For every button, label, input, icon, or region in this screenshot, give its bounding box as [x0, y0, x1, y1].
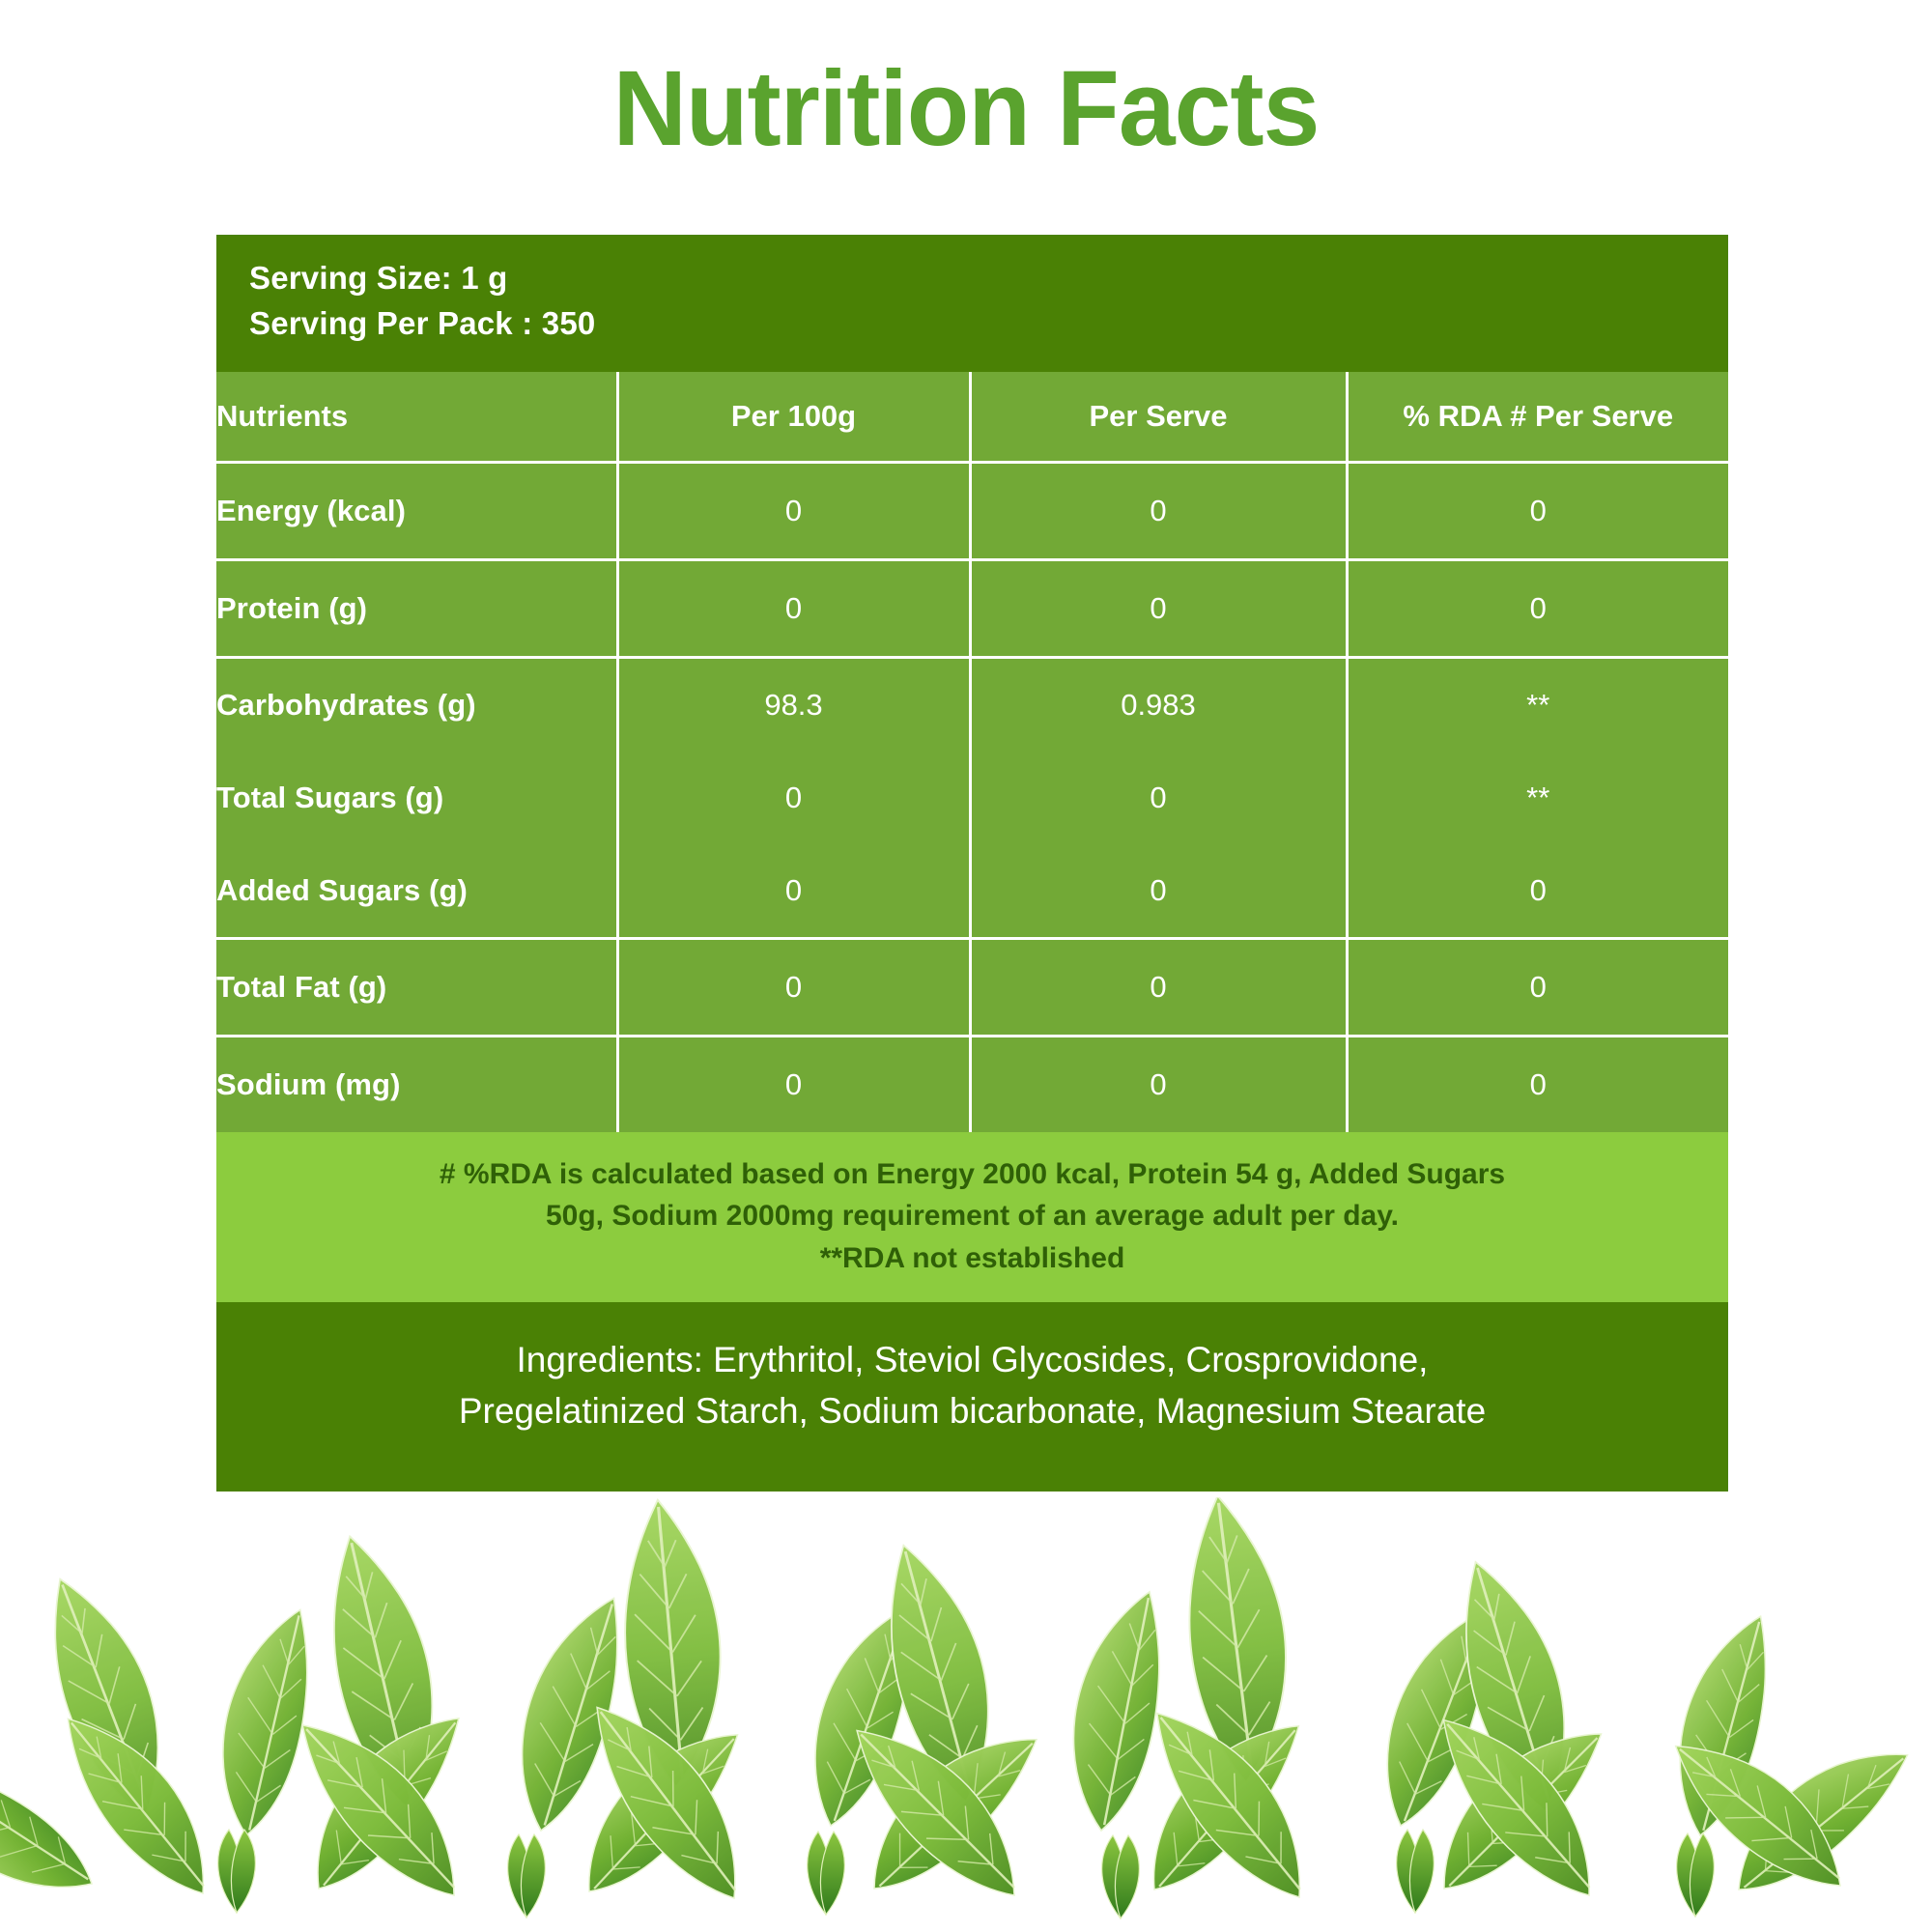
nutrient-rda: **	[1347, 657, 1728, 752]
nutrient-name: Total Sugars (g)	[216, 752, 617, 844]
nutrient-name: Energy (kcal)	[216, 462, 617, 559]
nutrient-per-serve: 0	[970, 844, 1347, 939]
table-row: Carbohydrates (g) 98.3 0.983 **	[216, 657, 1728, 752]
nutrient-name: Added Sugars (g)	[216, 844, 617, 939]
nutrient-per-serve: 0	[970, 559, 1347, 657]
column-header-rda-per-serve: % RDA # Per Serve	[1347, 372, 1728, 463]
ingredients-line-2: Pregelatinized Starch, Sodium bicarbonat…	[255, 1386, 1690, 1437]
nutrient-per-serve: 0	[970, 1036, 1347, 1132]
table-row: Protein (g) 0 0 0	[216, 559, 1728, 657]
nutrient-per-100g: 0	[617, 938, 970, 1036]
serving-per-pack-text: Serving Per Pack : 350	[249, 301, 1695, 347]
stevia-leaves-decoration	[0, 1497, 1932, 1932]
page-title: Nutrition Facts	[39, 56, 1893, 162]
nutrient-per-100g: 0	[617, 559, 970, 657]
nutrient-name: Total Fat (g)	[216, 938, 617, 1036]
footnote-line-3: **RDA not established	[274, 1237, 1670, 1280]
nutrition-table: Nutrients Per 100g Per Serve % RDA # Per…	[216, 372, 1728, 1132]
nutrient-name: Sodium (mg)	[216, 1036, 617, 1132]
serving-size-text: Serving Size: 1 g	[249, 256, 1695, 301]
nutrient-rda: 0	[1347, 844, 1728, 939]
nutrient-per-serve: 0	[970, 938, 1347, 1036]
nutrition-facts-label: Nutrition Facts Serving Size: 1 g Servin…	[0, 0, 1932, 1932]
table-row: Sodium (mg) 0 0 0	[216, 1036, 1728, 1132]
nutrient-rda: 0	[1347, 462, 1728, 559]
footnote-line-2: 50g, Sodium 2000mg requirement of an ave…	[274, 1195, 1670, 1237]
nutrient-per-100g: 0	[617, 844, 970, 939]
nutrient-per-serve: 0	[970, 752, 1347, 844]
ingredients-line-1: Ingredients: Erythritol, Steviol Glycosi…	[255, 1335, 1690, 1386]
nutrient-rda: 0	[1347, 1036, 1728, 1132]
rda-footnote-block: # %RDA is calculated based on Energy 200…	[216, 1132, 1728, 1303]
nutrient-rda: 0	[1347, 938, 1728, 1036]
nutrient-per-100g: 0	[617, 1036, 970, 1132]
nutrition-card: Serving Size: 1 g Serving Per Pack : 350…	[216, 235, 1728, 1492]
table-header-row: Nutrients Per 100g Per Serve % RDA # Per…	[216, 372, 1728, 463]
table-row: Added Sugars (g) 0 0 0	[216, 844, 1728, 939]
nutrient-per-serve: 0	[970, 462, 1347, 559]
nutrient-per-100g: 0	[617, 752, 970, 844]
table-row: Total Sugars (g) 0 0 **	[216, 752, 1728, 844]
column-header-per-serve: Per Serve	[970, 372, 1347, 463]
column-header-per-100g: Per 100g	[617, 372, 970, 463]
stevia-leaves-icon	[0, 1497, 1932, 1932]
nutrient-per-100g: 98.3	[617, 657, 970, 752]
table-row: Total Fat (g) 0 0 0	[216, 938, 1728, 1036]
nutrient-name: Protein (g)	[216, 559, 617, 657]
nutrient-rda: 0	[1347, 559, 1728, 657]
nutrient-per-serve: 0.983	[970, 657, 1347, 752]
ingredients-block: Ingredients: Erythritol, Steviol Glycosi…	[216, 1302, 1728, 1492]
footnote-line-1: # %RDA is calculated based on Energy 200…	[274, 1153, 1670, 1196]
nutrient-rda: **	[1347, 752, 1728, 844]
table-row: Energy (kcal) 0 0 0	[216, 462, 1728, 559]
column-header-nutrients: Nutrients	[216, 372, 617, 463]
nutrient-per-100g: 0	[617, 462, 970, 559]
serving-info-block: Serving Size: 1 g Serving Per Pack : 350	[216, 235, 1728, 372]
nutrient-name: Carbohydrates (g)	[216, 657, 617, 752]
